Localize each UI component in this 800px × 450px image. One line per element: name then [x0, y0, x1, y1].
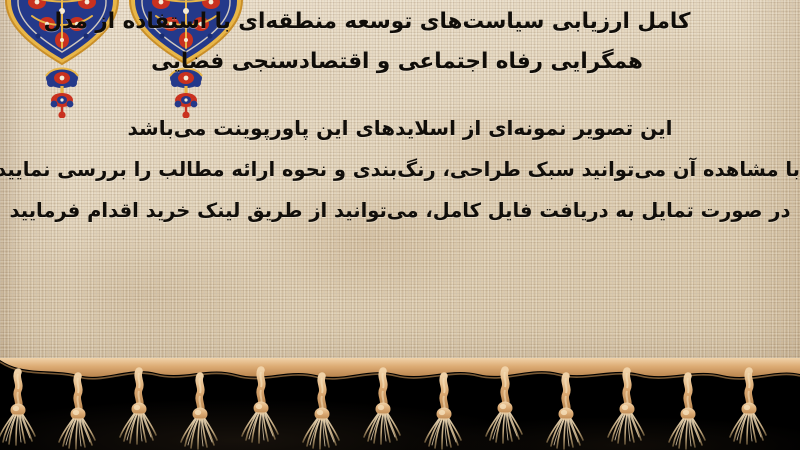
fringe-top-cord: [0, 358, 800, 377]
slide-canvas: کامل ارزیابی سیاست‌های توسعه منطقه‌ای با…: [0, 0, 800, 450]
title-line-2: همگرایی رفاه اجتماعی و اقتصادسنجی فضایی: [2, 42, 792, 82]
body-line-3: در صورت تمایل به دریافت فایل کامل، می‌تو…: [0, 190, 800, 231]
title-line-1: کامل ارزیابی سیاست‌های توسعه منطقه‌ای با…: [2, 2, 792, 42]
body-line-1: این تصویر نمونه‌ای از اسلایدهای این پاور…: [0, 108, 800, 149]
slide-text-layer: کامل ارزیابی سیاست‌های توسعه منطقه‌ای با…: [0, 0, 800, 378]
body-line-2: با مشاهده آن می‌توانید سبک طراحی، رنگ‌بن…: [0, 149, 800, 190]
slide-title: کامل ارزیابی سیاست‌های توسعه منطقه‌ای با…: [2, 2, 792, 82]
carpet-fringe: [0, 358, 800, 450]
slide-body: این تصویر نمونه‌ای از اسلایدهای این پاور…: [0, 108, 800, 231]
tassel-row: [0, 370, 766, 449]
